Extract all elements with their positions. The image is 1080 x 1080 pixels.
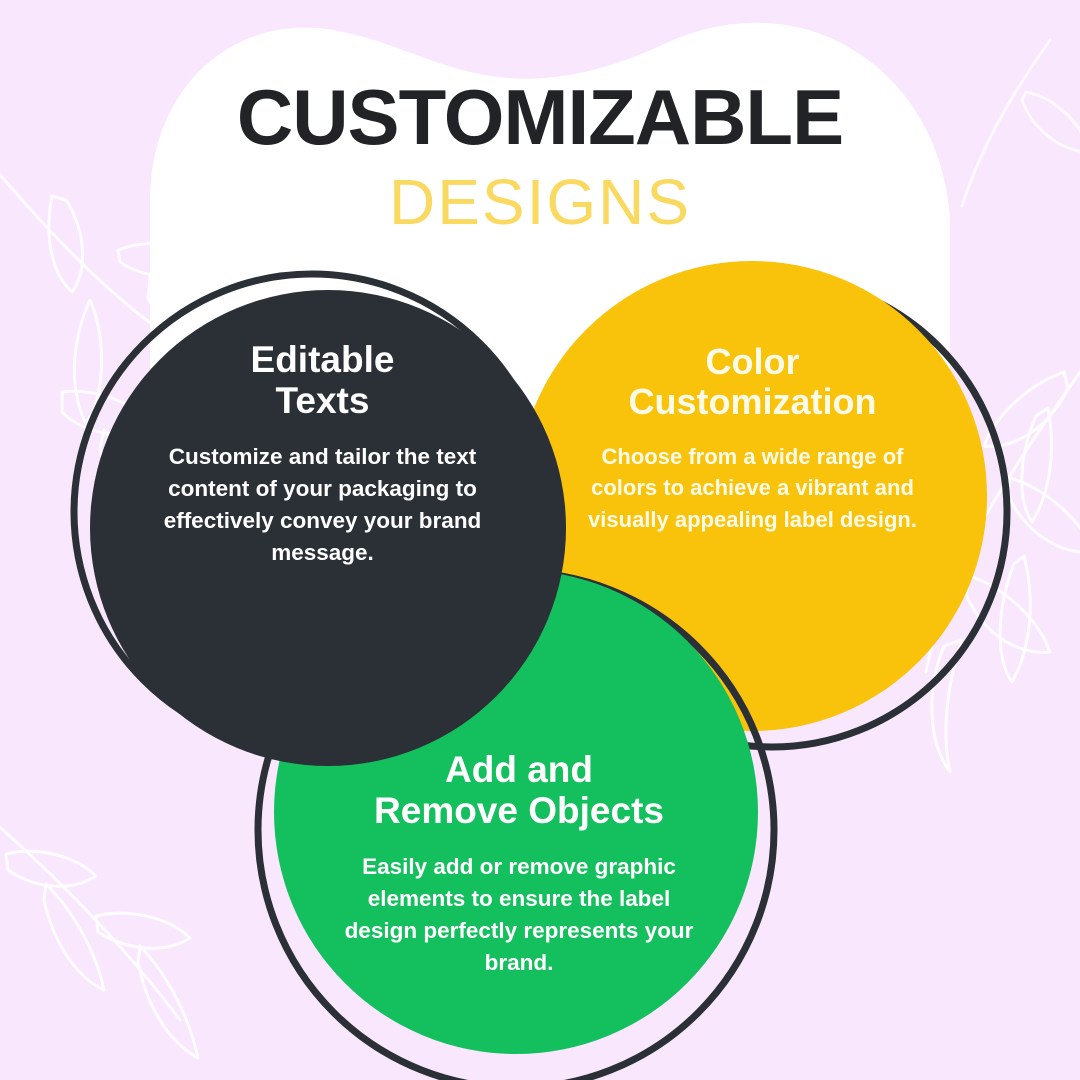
title-main-line: CUSTOMIZABLE	[0, 78, 1080, 156]
circle-content-editable-texts: Editable Texts Customize and tailor the …	[150, 340, 495, 569]
circle-heading-color-customization: Color Customization	[585, 342, 920, 421]
heading-line-1: Add and	[340, 750, 698, 791]
title-sub-line: DESIGNS	[0, 170, 1080, 234]
circle-content-add-remove-objects: Add and Remove Objects Easily add or rem…	[340, 750, 698, 979]
heading-line-1: Editable	[150, 340, 495, 381]
circle-heading-add-remove-objects: Add and Remove Objects	[340, 750, 698, 831]
circle-body-editable-texts: Customize and tailor the text content of…	[150, 441, 495, 569]
heading-line-2: Customization	[585, 382, 920, 422]
page-title: CUSTOMIZABLE DESIGNS	[0, 78, 1080, 234]
circle-heading-editable-texts: Editable Texts	[150, 340, 495, 421]
circle-body-color-customization: Choose from a wide range of colors to ac…	[585, 441, 920, 535]
circle-body-add-remove-objects: Easily add or remove graphic elements to…	[340, 851, 698, 979]
circle-content-color-customization: Color Customization Choose from a wide r…	[585, 342, 920, 535]
heading-line-1: Color	[585, 342, 920, 382]
infographic-poster: CUSTOMIZABLE DESIGNS Editable Texts Cust…	[0, 0, 1080, 1080]
heading-line-2: Remove Objects	[340, 791, 698, 832]
heading-line-2: Texts	[150, 381, 495, 422]
